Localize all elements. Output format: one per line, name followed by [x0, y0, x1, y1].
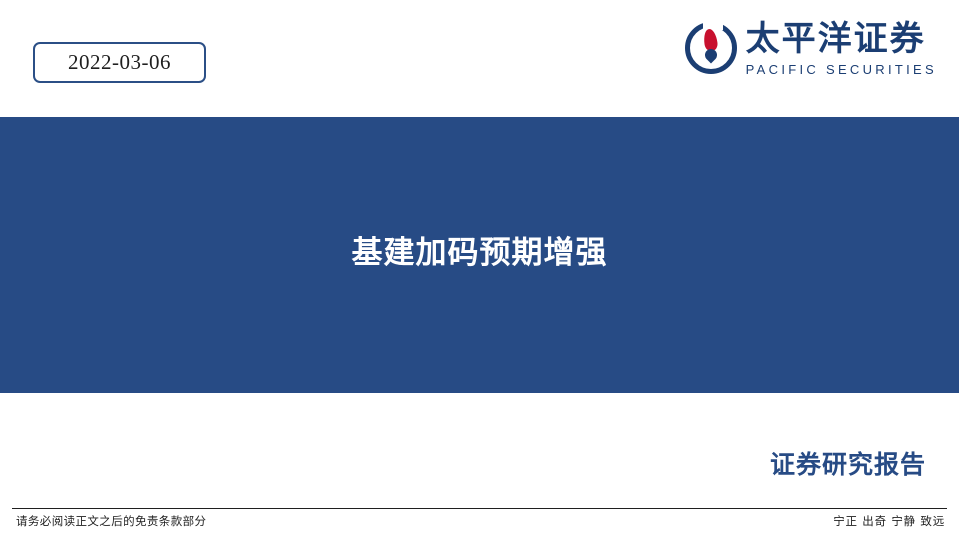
- slide-header: 2022-03-06 太平洋证券 PACIFIC SECURITIES: [0, 0, 959, 117]
- logo-ring-gap-shape: [703, 19, 723, 30]
- report-type-label: 证券研究报告: [770, 445, 926, 481]
- slide-body: 证券研究报告: [0, 393, 959, 506]
- logo-text-block: 太平洋证券 PACIFIC SECURITIES: [746, 20, 937, 79]
- pacific-securities-logo-icon: [685, 22, 737, 74]
- logo-english-name: PACIFIC SECURITIES: [746, 61, 937, 79]
- logo-chinese-name: 太平洋证券: [746, 20, 937, 58]
- footer-authors: 宁正 出奇 宁静 致远: [833, 513, 945, 529]
- brand-logo: 太平洋证券 PACIFIC SECURITIES: [685, 20, 937, 88]
- slide-root: 2022-03-06 太平洋证券 PACIFIC SECURITIES 基建加码…: [0, 0, 959, 539]
- footer-divider: [12, 508, 947, 509]
- title-banner: 基建加码预期增强: [0, 117, 959, 393]
- date-badge: 2022-03-06: [33, 42, 206, 83]
- page-title: 基建加码预期增强: [352, 227, 608, 272]
- footer-disclaimer: 请务必阅读正文之后的免责条款部分: [16, 513, 206, 529]
